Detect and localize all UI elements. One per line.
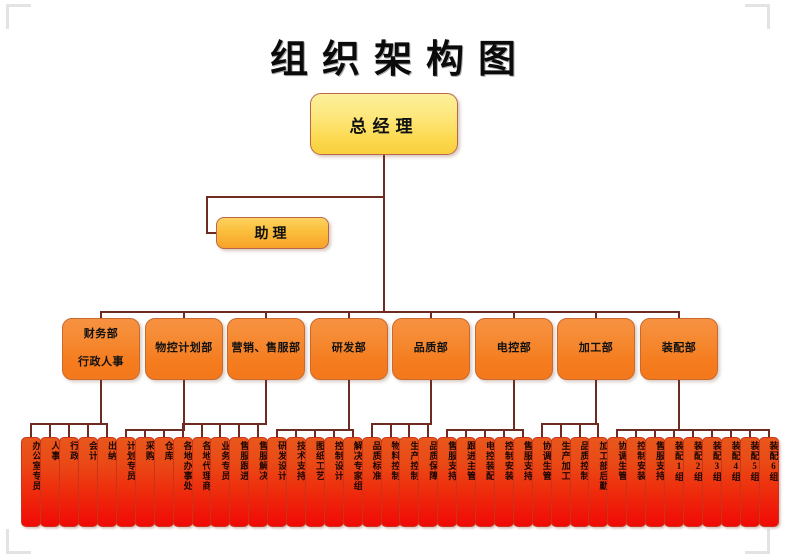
connector-vertical	[100, 311, 102, 318]
leaf-box-2-1[interactable]: 计划专员	[116, 437, 136, 527]
node-label: 品质标准	[371, 441, 381, 481]
department-box-8[interactable]: 装配部	[640, 318, 718, 380]
connector-vertical	[595, 380, 597, 423]
node-label: 技术支持	[296, 441, 306, 481]
connector-vertical	[238, 423, 240, 437]
leaf-box-4-2[interactable]: 技术支持	[286, 437, 306, 527]
node-label: 售服支持	[447, 441, 457, 481]
connector-horizontal	[182, 423, 267, 425]
department-box-4[interactable]: 研发部	[310, 318, 388, 380]
connector-vertical	[541, 423, 543, 437]
crop-mark-bottom-right	[745, 529, 770, 554]
department-box-1[interactable]: 财务部行政人事	[62, 318, 140, 380]
node-label: 装配3组	[711, 441, 721, 482]
node-label: 各地代理商	[201, 441, 211, 491]
connector-vertical	[144, 429, 146, 437]
connector-vertical	[183, 380, 185, 429]
node-label: 办公室专员	[31, 441, 41, 491]
leaf-box-8-5[interactable]: 装配2组	[683, 437, 703, 527]
leaf-box-5-1[interactable]: 品质标准	[362, 437, 382, 527]
leaf-box-7-2[interactable]: 生产加工	[551, 437, 571, 527]
connector-vertical	[749, 429, 751, 437]
connector-vertical	[49, 423, 51, 437]
connector-vertical	[333, 429, 335, 437]
connector-vertical	[183, 311, 185, 318]
connector-vertical	[219, 423, 221, 437]
connector-vertical	[348, 311, 350, 318]
connector-vertical	[383, 155, 385, 311]
node-label-line: 营销、售服部	[232, 342, 301, 356]
connector-vertical	[446, 429, 448, 437]
connector-horizontal	[206, 232, 216, 234]
connector-vertical	[730, 429, 732, 437]
connector-vertical	[427, 423, 429, 437]
leaf-box-3-1[interactable]: 各地办事处	[173, 437, 193, 527]
connector-vertical	[87, 423, 89, 437]
connector-vertical	[673, 429, 675, 437]
leaf-box-2-2[interactable]: 采购	[135, 437, 155, 527]
connector-vertical	[654, 429, 656, 437]
connector-vertical	[513, 311, 515, 318]
node-label: 装配2组	[692, 441, 702, 482]
leaf-box-8-4[interactable]: 装配1组	[664, 437, 684, 527]
connector-vertical	[206, 196, 208, 233]
connector-horizontal	[206, 196, 384, 198]
connector-vertical	[560, 423, 562, 437]
connector-vertical	[595, 311, 597, 318]
leaf-box-1-3[interactable]: 行政	[59, 437, 79, 527]
department-box-6[interactable]: 电控部	[475, 318, 553, 380]
connector-vertical	[163, 429, 165, 437]
connector-vertical	[579, 423, 581, 437]
node-label: 协调生管	[617, 441, 627, 481]
node-label: 行政	[69, 441, 79, 461]
node-label: 各地办事处	[182, 441, 192, 491]
node-label: 电控装配	[485, 441, 495, 481]
connector-vertical	[635, 429, 637, 437]
page-title: 组织架构图	[0, 28, 800, 83]
connector-vertical	[348, 380, 350, 429]
node-label-line: 装配部	[662, 342, 697, 356]
connector-vertical	[100, 380, 102, 423]
leaf-box-6-5[interactable]: 售服支持	[513, 437, 533, 527]
node-label: 跟进主管	[466, 441, 476, 481]
leaf-box-8-2[interactable]: 控制安装	[626, 437, 646, 527]
leaf-box-4-3[interactable]: 图纸工艺	[305, 437, 325, 527]
leaf-box-5-4[interactable]: 品质保障	[418, 437, 438, 527]
department-box-7[interactable]: 加工部	[557, 318, 635, 380]
connector-vertical	[430, 380, 432, 423]
leaf-box-8-7[interactable]: 装配4组	[721, 437, 741, 527]
node-label-line: 加工部	[579, 342, 614, 356]
connector-vertical	[314, 429, 316, 437]
leaf-box-4-5[interactable]: 解决专家组	[343, 437, 363, 527]
node-label: 生产加工	[560, 441, 570, 481]
leaf-box-4-1[interactable]: 研发设计	[267, 437, 287, 527]
connector-vertical	[522, 429, 524, 437]
leaf-box-7-1[interactable]: 协调生管	[532, 437, 552, 527]
node-label: 助理	[255, 223, 291, 243]
connector-vertical	[30, 423, 32, 437]
crop-mark-top-left	[6, 4, 31, 29]
connector-vertical	[513, 380, 515, 429]
node-label: 售服解决	[258, 441, 268, 481]
connector-vertical	[182, 423, 184, 437]
node-label: 协调生管	[541, 441, 551, 481]
leaf-box-5-3[interactable]: 生产控制	[399, 437, 419, 527]
node-label: 计划专员	[125, 441, 135, 481]
leaf-box-3-2[interactable]: 各地代理商	[192, 437, 212, 527]
node-label: 控制安装	[503, 441, 513, 481]
connector-vertical	[371, 423, 373, 437]
leaf-box-1-1[interactable]: 办公室专员	[21, 437, 41, 527]
leaf-box-3-4[interactable]: 售服跟进	[229, 437, 249, 527]
leaf-box-8-1[interactable]: 协调生管	[607, 437, 627, 527]
leaf-box-3-5[interactable]: 售服解决	[248, 437, 268, 527]
connector-vertical	[352, 429, 354, 437]
node-label: 加工部后勤	[598, 441, 608, 491]
leaf-box-1-5[interactable]: 出纳	[97, 437, 117, 527]
leaf-box-6-4[interactable]: 控制安装	[494, 437, 514, 527]
connector-horizontal	[371, 423, 432, 425]
leaf-box-3-3[interactable]: 业务专员	[210, 437, 230, 527]
connector-vertical	[430, 311, 432, 318]
connector-vertical	[390, 423, 392, 437]
node-label: 解决专家组	[352, 441, 362, 491]
connector-vertical	[484, 429, 486, 437]
node-label: 售服跟进	[239, 441, 249, 481]
assistant-box[interactable]: 助理	[216, 217, 329, 249]
node-label: 业务专员	[220, 441, 230, 481]
connector-vertical	[616, 429, 618, 437]
leaf-box-8-9[interactable]: 装配6组	[759, 437, 779, 527]
node-label-line: 财务部	[84, 328, 119, 342]
node-label: 物料控制	[390, 441, 400, 481]
leaf-box-4-4[interactable]: 控制设计	[324, 437, 344, 527]
department-box-2[interactable]: 物控计划部	[145, 318, 223, 380]
node-label: 装配4组	[730, 441, 740, 482]
connector-horizontal	[100, 311, 680, 313]
node-label: 会计	[88, 441, 98, 461]
leaf-box-6-1[interactable]: 售服支持	[437, 437, 457, 527]
connector-vertical	[201, 423, 203, 437]
node-label: 仓库	[163, 441, 173, 461]
org-chart-canvas: 组织架构图 总经理助理财务部行政人事办公室专员人事行政会计出纳物控计划部计划专员…	[0, 0, 800, 560]
node-label: 品质控制	[579, 441, 589, 481]
leaf-box-8-6[interactable]: 装配3组	[702, 437, 722, 527]
leaf-box-7-4[interactable]: 加工部后勤	[588, 437, 608, 527]
node-label: 人事	[50, 441, 60, 461]
leaf-box-1-2[interactable]: 人事	[40, 437, 60, 527]
node-label: 售服支持	[655, 441, 665, 481]
node-label: 总经理	[350, 112, 419, 137]
general-manager-box[interactable]: 总经理	[310, 93, 458, 155]
connector-vertical	[768, 429, 770, 437]
node-label-line: 研发部	[332, 342, 367, 356]
node-label-line: 物控计划部	[155, 342, 213, 356]
leaf-box-8-8[interactable]: 装配5组	[740, 437, 760, 527]
node-label: 装配5组	[749, 441, 759, 482]
node-label: 图纸工艺	[314, 441, 324, 481]
connector-vertical	[503, 429, 505, 437]
connector-vertical	[125, 429, 127, 437]
node-label: 研发设计	[277, 441, 287, 481]
connector-vertical	[408, 423, 410, 437]
department-box-3[interactable]: 营销、售服部	[227, 318, 305, 380]
node-label: 生产控制	[409, 441, 419, 481]
leaf-box-6-3[interactable]: 电控装配	[475, 437, 495, 527]
connector-vertical	[265, 311, 267, 318]
node-label: 控制设计	[333, 441, 343, 481]
leaf-box-8-3[interactable]: 售服支持	[645, 437, 665, 527]
crop-mark-bottom-left	[6, 529, 31, 554]
node-label-line: 电控部	[497, 342, 532, 356]
connector-vertical	[295, 429, 297, 437]
node-label: 出纳	[107, 441, 117, 461]
node-label-line: 行政人事	[78, 356, 124, 370]
leaf-box-1-4[interactable]: 会计	[78, 437, 98, 527]
leaf-box-6-2[interactable]: 跟进主管	[456, 437, 476, 527]
connector-vertical	[265, 380, 267, 423]
node-label: 售服支持	[522, 441, 532, 481]
connector-vertical	[68, 423, 70, 437]
connector-vertical	[678, 311, 680, 318]
node-label: 控制安装	[636, 441, 646, 481]
connector-vertical	[465, 429, 467, 437]
node-label: 采购	[144, 441, 154, 461]
crop-mark-top-right	[745, 4, 770, 29]
node-label: 装配1组	[674, 441, 684, 482]
node-label: 品质保障	[428, 441, 438, 481]
node-label-line: 品质部	[414, 342, 449, 356]
leaf-box-2-3[interactable]: 仓库	[154, 437, 174, 527]
node-label: 装配6组	[768, 441, 778, 482]
connector-vertical	[597, 423, 599, 437]
leaf-box-5-2[interactable]: 物料控制	[381, 437, 401, 527]
connector-horizontal	[125, 429, 185, 431]
connector-vertical	[692, 429, 694, 437]
leaf-box-7-3[interactable]: 品质控制	[570, 437, 590, 527]
connector-vertical	[106, 423, 108, 437]
connector-vertical	[678, 380, 680, 429]
department-box-5[interactable]: 品质部	[392, 318, 470, 380]
connector-vertical	[276, 429, 278, 437]
connector-vertical	[257, 423, 259, 437]
connector-vertical	[711, 429, 713, 437]
connector-horizontal	[541, 423, 600, 425]
